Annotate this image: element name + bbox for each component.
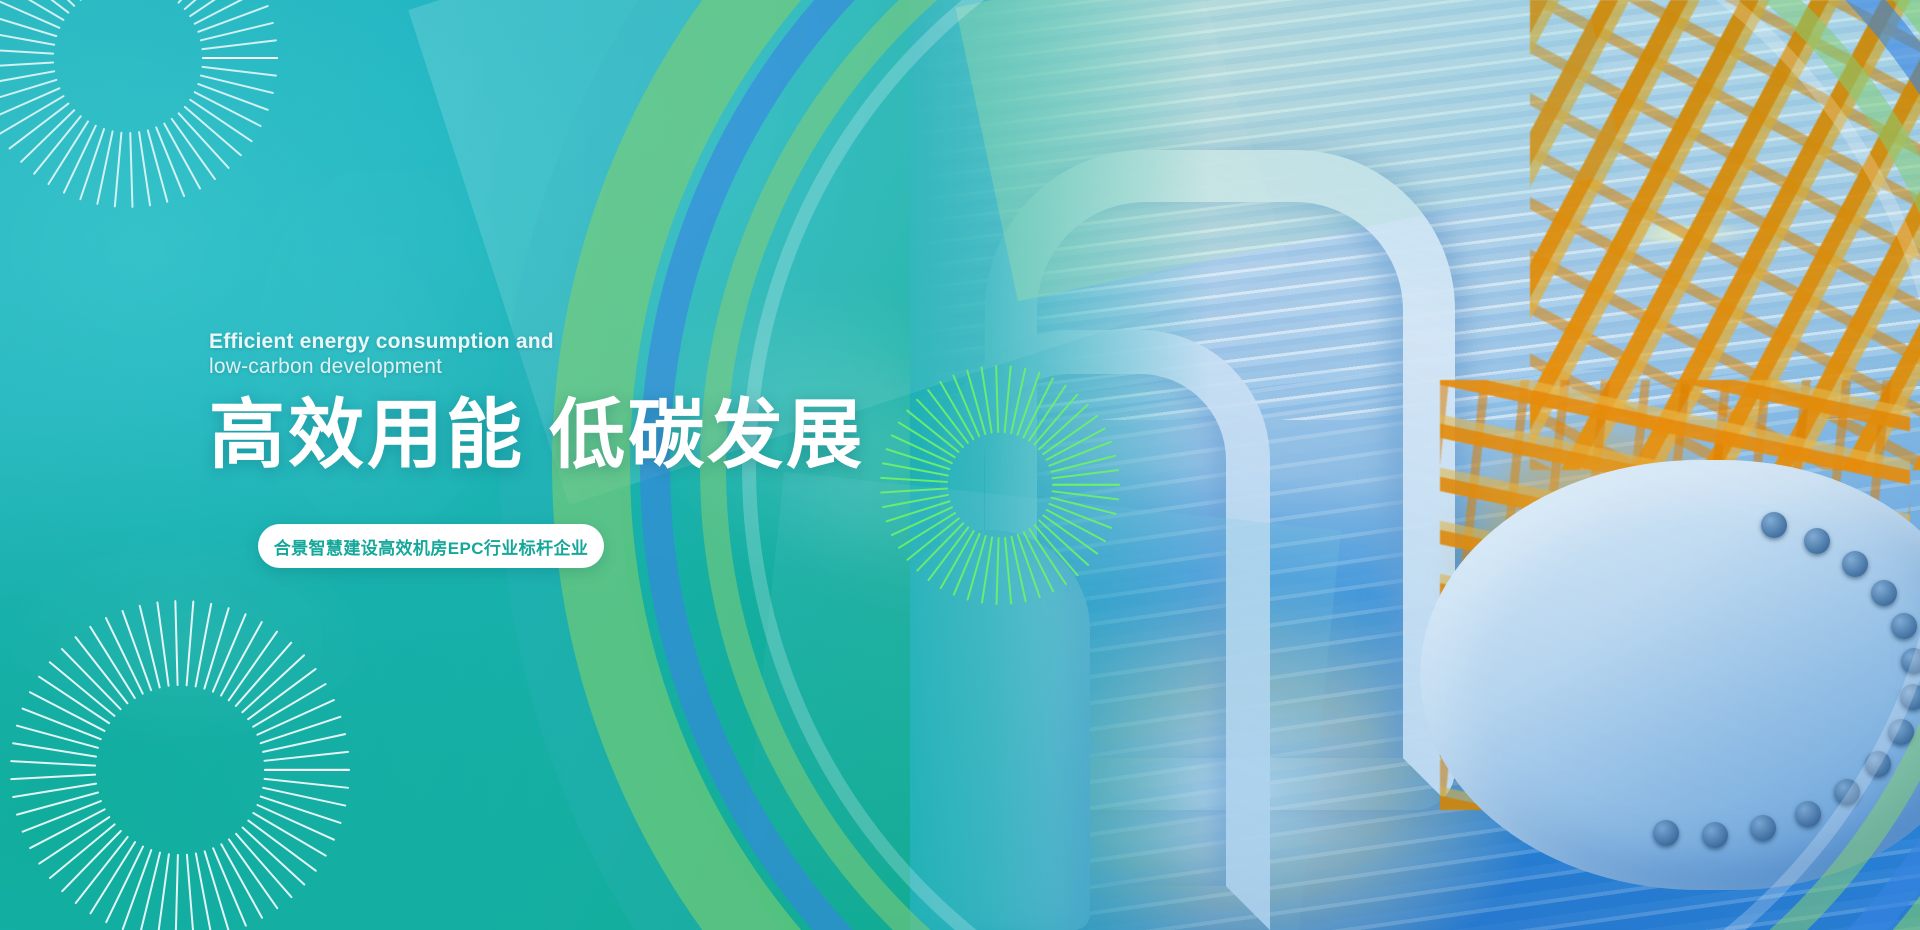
eyebrow-line-1: Efficient energy consumption and <box>209 330 969 355</box>
hero-copy: Efficient energy consumption and low-car… <box>209 330 969 476</box>
page-title: 高效用能 低碳发展 <box>209 396 969 477</box>
industrial-pipes-photo <box>910 0 1920 930</box>
hero-banner: Efficient energy consumption and low-car… <box>0 0 1920 930</box>
tagline-pill-label: 合景智慧建设高效机房EPC行业标杆企业 <box>274 534 589 559</box>
tagline-pill[interactable]: 合景智慧建设高效机房EPC行业标杆企业 <box>258 524 604 568</box>
eyebrow-line-2: low-carbon development <box>209 355 969 380</box>
